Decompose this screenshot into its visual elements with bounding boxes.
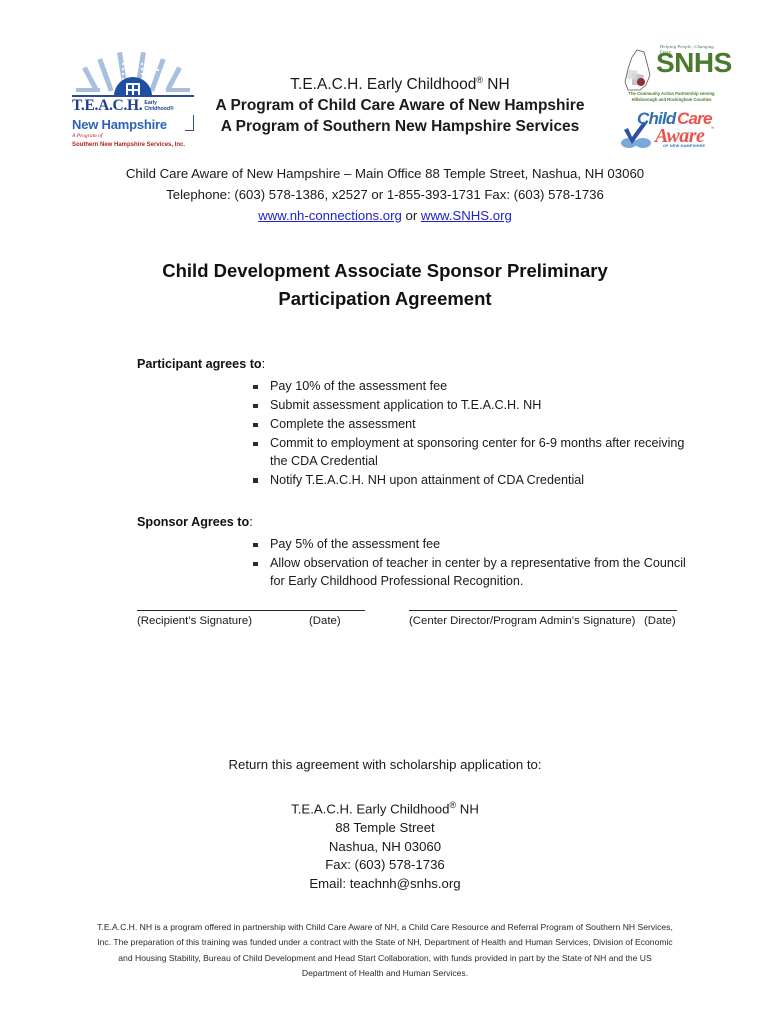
- cca-trademark-mark: ™: [710, 126, 715, 131]
- signature-line-director[interactable]: [409, 610, 677, 611]
- header-title-line-1: T.E.A.C.H. Early Childhood® NH: [200, 70, 600, 95]
- signature-block-recipient: (Recipient’s Signature) (Date): [137, 610, 365, 614]
- signature-block-director: (Center Director/Program Admin’s Signatu…: [409, 610, 677, 614]
- teach-logo: T.E.A.C.H. Early Childhood® New Hampshir…: [72, 48, 194, 156]
- header-title-line-2: A Program of Child Care Aware of New Ham…: [200, 95, 600, 116]
- teach-program-line1: A Program of: [72, 133, 194, 141]
- signature-label-director: (Center Director/Program Admin’s Signatu…: [409, 614, 635, 629]
- new-hampshire-map-icon: [620, 49, 654, 91]
- header-title-line-1-text: T.E.A.C.H. Early Childhood: [290, 76, 476, 93]
- page-title: Child Development Associate Sponsor Prel…: [85, 257, 685, 313]
- bullet-square-icon: [253, 442, 258, 447]
- snhs-subtitle: The Community Action Partnership serving…: [620, 91, 723, 104]
- cca-subtitle: OF NEW HAMPSHIRE: [663, 144, 705, 148]
- bullet-square-icon: [253, 543, 258, 548]
- list-item: Complete the assessment: [137, 416, 697, 434]
- signature-area: (Recipient’s Signature) (Date) (Center D…: [0, 600, 770, 640]
- list-item: Submit assessment application to T.E.A.C…: [137, 397, 697, 415]
- section-heading-participant-colon: :: [262, 357, 266, 371]
- signature-label-recipient: (Recipient’s Signature): [137, 614, 252, 629]
- header-title-line-3: A Program of Southern New Hampshire Serv…: [200, 116, 600, 137]
- registered-mark: ®: [476, 75, 483, 85]
- date-label-recipient: (Date): [309, 614, 341, 629]
- teach-early-childhood-label: Early Childhood®: [144, 101, 173, 113]
- return-org-name-text: T.E.A.C.H. Early Childhood: [291, 801, 449, 816]
- snhs-wordmark: SNHS: [656, 48, 732, 78]
- sunburst-icon: [76, 48, 190, 96]
- page-title-line-1: Child Development Associate Sponsor Prel…: [85, 257, 685, 285]
- section-heading-sponsor-text: Sponsor Agrees to: [137, 515, 249, 529]
- list-item-text: Pay 5% of the assessment fee: [270, 537, 440, 551]
- sponsor-obligations-list: Pay 5% of the assessment fee Allow obser…: [137, 536, 697, 590]
- list-item: Allow observation of teacher in center b…: [137, 555, 697, 590]
- list-item-text: Notify T.E.A.C.H. NH upon attainment of …: [270, 473, 584, 487]
- participant-obligations-list: Pay 10% of the assessment fee Submit ass…: [137, 378, 697, 490]
- bullet-square-icon: [253, 404, 258, 409]
- section-sponsor: Sponsor Agrees to: Pay 5% of the assessm…: [137, 513, 697, 590]
- contact-phone: Telephone: (603) 578-1386, x2527 or 1-85…: [0, 184, 770, 205]
- header-title-block: T.E.A.C.H. Early Childhood® NH A Program…: [200, 70, 600, 137]
- return-city-state-zip: Nashua, NH 03060: [0, 838, 770, 857]
- list-item: Notify T.E.A.C.H. NH upon attainment of …: [137, 472, 697, 490]
- section-heading-sponsor-colon: :: [249, 515, 253, 529]
- teach-wordmark: T.E.A.C.H. Early Childhood® New Hampshir…: [72, 95, 194, 150]
- bullet-square-icon: [253, 478, 258, 483]
- agreement-body: Participant agrees to: Pay 10% of the as…: [137, 355, 697, 592]
- teach-bracket-decoration: [185, 115, 194, 131]
- return-org-name: T.E.A.C.H. Early Childhood® NH: [0, 796, 770, 819]
- bullet-square-icon: [253, 423, 258, 428]
- list-item-text: Commit to employment at sponsoring cente…: [270, 436, 684, 468]
- section-heading-participant-text: Participant agrees to: [137, 357, 262, 371]
- child-care-aware-logo: Child Care Aware ™ OF NEW HAMPSHIRE: [619, 108, 717, 154]
- snhs-logo: Helping People, Changing Lives SNHS The …: [620, 44, 723, 102]
- list-item-text: Submit assessment application to T.E.A.C…: [270, 398, 541, 412]
- bullet-square-icon: [253, 562, 258, 567]
- list-item-text: Pay 10% of the assessment fee: [270, 379, 447, 393]
- list-item: Commit to employment at sponsoring cente…: [137, 435, 697, 470]
- signature-line-recipient[interactable]: [137, 610, 365, 611]
- list-item-text: Allow observation of teacher in center b…: [270, 556, 686, 588]
- date-label-director: (Date): [644, 614, 676, 629]
- link-nh-connections[interactable]: www.nh-connections.org: [258, 208, 402, 223]
- section-heading-participant: Participant agrees to:: [137, 355, 697, 374]
- list-item: Pay 5% of the assessment fee: [137, 536, 697, 554]
- list-item: Pay 10% of the assessment fee: [137, 378, 697, 396]
- section-participant: Participant agrees to: Pay 10% of the as…: [137, 355, 697, 490]
- return-org-name-suffix: NH: [456, 801, 479, 816]
- contact-websites: www.nh-connections.org or www.SNHS.org: [0, 205, 770, 226]
- return-instructions: Return this agreement with scholarship a…: [0, 755, 770, 893]
- teach-state-label: New Hampshire: [72, 117, 167, 132]
- link-snhs[interactable]: www.SNHS.org: [421, 208, 512, 223]
- return-email: Email: teachnh@snhs.org: [0, 875, 770, 894]
- return-street: 88 Temple Street: [0, 819, 770, 838]
- contact-address: Child Care Aware of New Hampshire – Main…: [0, 163, 770, 184]
- section-spacer: [137, 491, 697, 513]
- document-header: T.E.A.C.H. Early Childhood® New Hampshir…: [0, 0, 770, 160]
- link-separator: or: [402, 208, 421, 223]
- return-fax: Fax: (603) 578-1736: [0, 856, 770, 875]
- section-heading-sponsor: Sponsor Agrees to:: [137, 513, 697, 532]
- list-item-text: Complete the assessment: [270, 417, 416, 431]
- header-title-line-1-suffix: NH: [483, 76, 510, 93]
- teach-childhood-text: Childhood®: [144, 106, 173, 112]
- document-page: T.E.A.C.H. Early Childhood® New Hampshir…: [0, 0, 770, 1024]
- footer-disclaimer: T.E.A.C.H. NH is a program offered in pa…: [95, 920, 675, 982]
- teach-acronym: T.E.A.C.H.: [72, 98, 142, 114]
- bullet-square-icon: [253, 385, 258, 390]
- return-lead-text: Return this agreement with scholarship a…: [0, 755, 770, 775]
- page-title-line-2: Participation Agreement: [85, 285, 685, 313]
- teach-program-line2: Southern New Hampshire Services, Inc.: [72, 142, 194, 150]
- contact-block: Child Care Aware of New Hampshire – Main…: [0, 163, 770, 226]
